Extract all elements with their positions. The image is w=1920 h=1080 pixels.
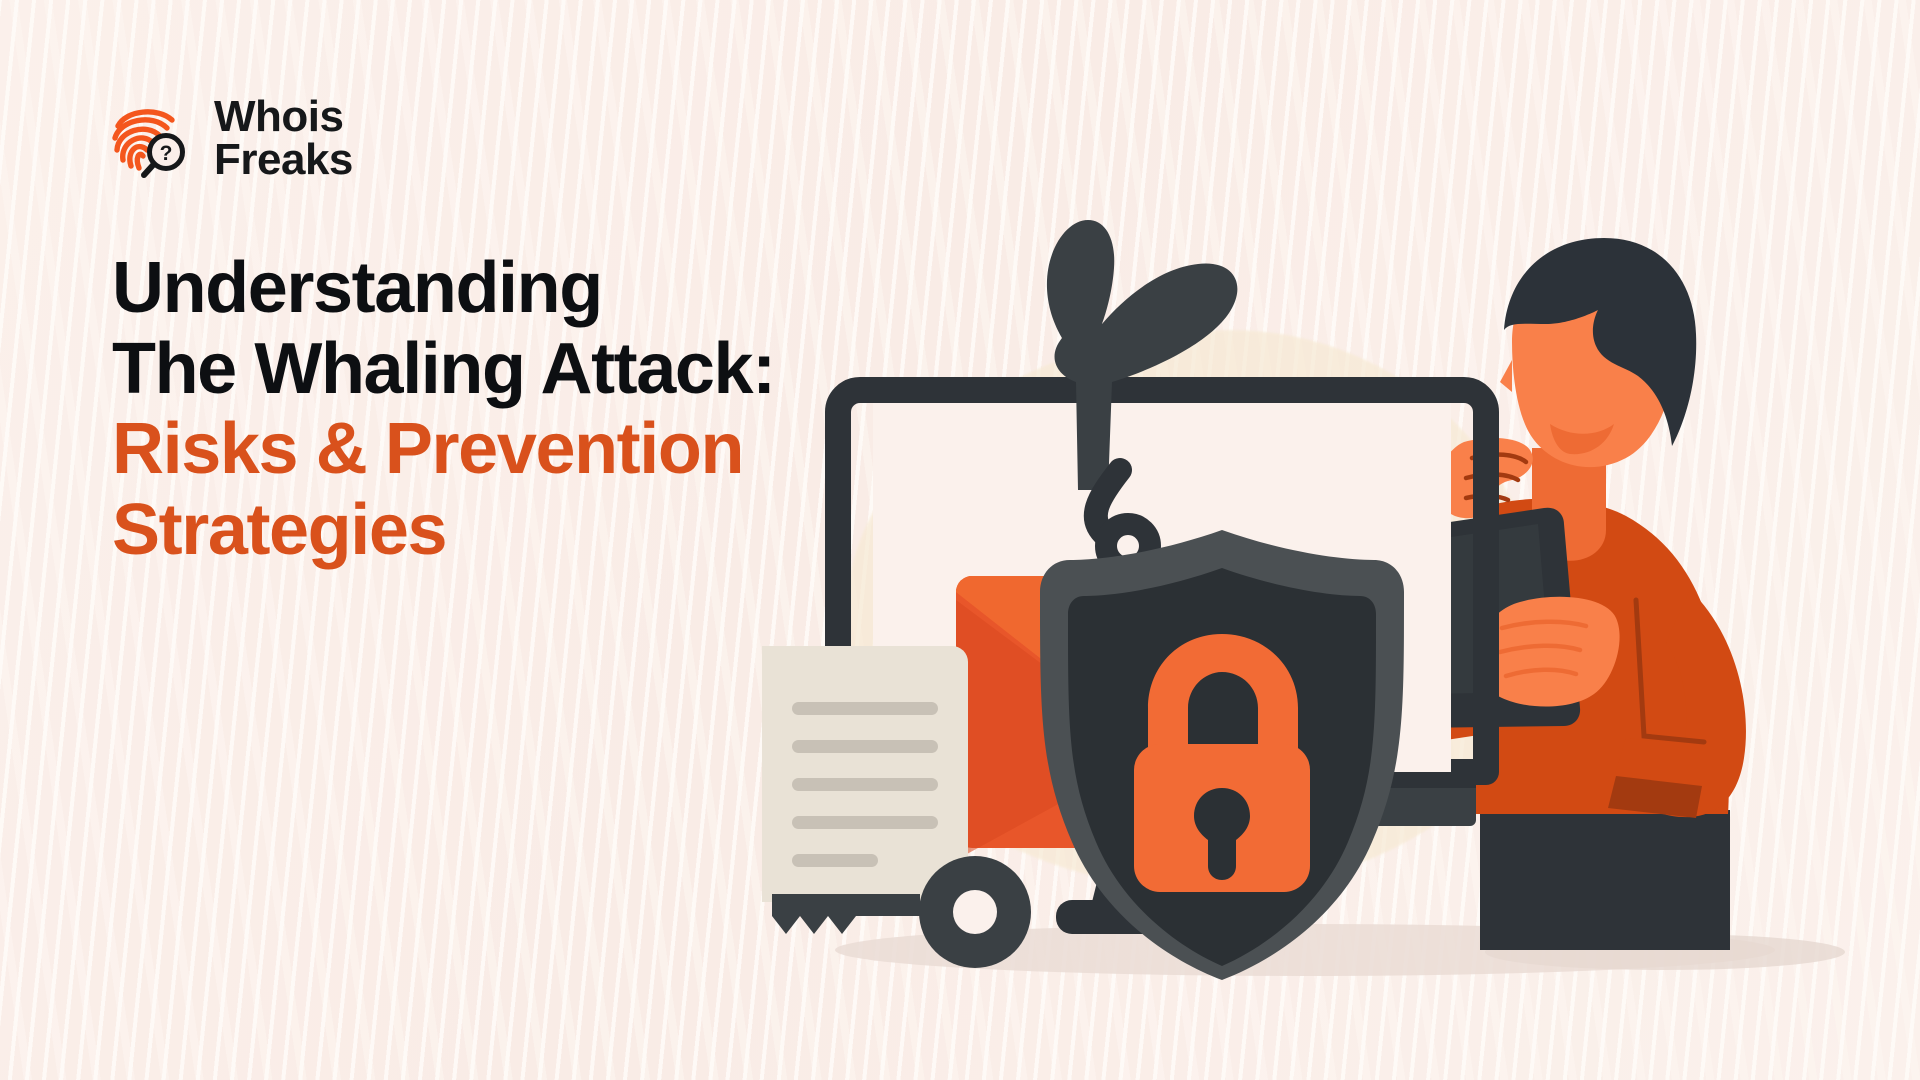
person-trousers bbox=[1480, 810, 1730, 950]
hero-illustration bbox=[760, 210, 1890, 1030]
svg-text:?: ? bbox=[160, 142, 173, 165]
brand-name-line2: Freaks bbox=[214, 138, 353, 181]
person-nose bbox=[1500, 360, 1512, 392]
fingerprint-magnifier-question-icon: ? bbox=[104, 98, 200, 178]
brand-name: Whois Freaks bbox=[214, 95, 353, 181]
document-sheet bbox=[762, 646, 968, 902]
brand-name-line1: Whois bbox=[214, 95, 353, 138]
banner-root: ? Whois Freaks Understanding The Whaling… bbox=[0, 0, 1920, 1080]
brand-logo[interactable]: ? Whois Freaks bbox=[104, 95, 353, 181]
